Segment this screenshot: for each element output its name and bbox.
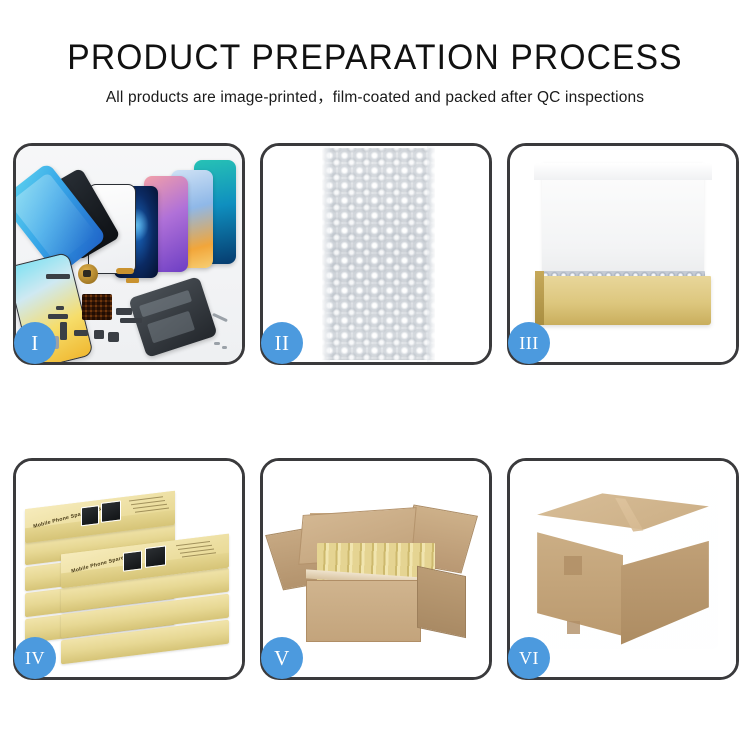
part-small-2 <box>48 314 68 319</box>
step-panel-1[interactable]: I <box>13 143 245 365</box>
part-small-3 <box>74 330 88 336</box>
logic-board-chip <box>82 294 112 320</box>
part-screw-1 <box>214 342 220 345</box>
step-panel-2[interactable]: II <box>260 143 492 365</box>
part-tweezers <box>212 313 228 322</box>
carton-front-wall <box>306 580 421 642</box>
sealed-carton-marking-2 <box>567 621 581 634</box>
box-side-flap <box>535 271 544 325</box>
box-kraft-base <box>535 276 711 326</box>
bubble-wrap-edge-left <box>322 146 330 362</box>
part-camera <box>94 330 104 339</box>
part-screw-2 <box>222 346 227 349</box>
step-badge-6: VI <box>508 637 550 679</box>
phone-back-housing <box>128 276 218 358</box>
step-badge-4: IV <box>14 637 56 679</box>
step-panel-3[interactable]: III <box>507 143 739 365</box>
step-panel-4[interactable]: Mobile Phone Spare Parts Mobile Phone Sp… <box>13 458 245 680</box>
box-lcd-image-front-2 <box>145 546 166 569</box>
step-panel-6[interactable]: VI <box>507 458 739 680</box>
bubble-wrap-sheet <box>322 148 435 360</box>
part-gold-flex <box>116 268 134 274</box>
part-small-4 <box>116 308 132 315</box>
part-button <box>108 332 119 342</box>
sealed-carton-side-face <box>621 541 709 645</box>
sealed-carton-front-face <box>537 532 623 636</box>
header: PRODUCT PREPARATION PROCESS All products… <box>0 0 750 106</box>
box-lcd-image-front-1 <box>123 551 142 572</box>
step-badge-5: V <box>261 637 303 679</box>
step-badge-3: III <box>508 322 550 364</box>
part-connector <box>46 274 70 279</box>
box-stack: Mobile Phone Spare Parts Mobile Phone Sp… <box>25 480 233 661</box>
steps-grid: I II III <box>13 143 739 680</box>
box-lid-open <box>542 163 705 284</box>
part-small-5 <box>120 318 142 323</box>
part-small-1 <box>56 306 64 310</box>
part-gold-tab <box>126 278 139 283</box>
box-lcd-image-back-1 <box>81 506 99 527</box>
part-flex-strip <box>60 322 67 340</box>
bubble-wrap-edge-right <box>427 146 435 362</box>
step-badge-1: I <box>14 322 56 364</box>
page-title: PRODUCT PREPARATION PROCESS <box>15 0 735 75</box>
sealed-carton-marking-1 <box>564 556 582 575</box>
step-panel-5[interactable]: V <box>260 458 492 680</box>
step-badge-2: II <box>261 322 303 364</box>
carton-side-wall <box>417 566 466 639</box>
product-preparation-infographic: PRODUCT PREPARATION PROCESS All products… <box>0 0 750 750</box>
box-lcd-image-back-2 <box>101 501 121 523</box>
speaker-module <box>78 264 98 284</box>
page-subtitle: All products are image-printed，film-coat… <box>0 75 750 106</box>
